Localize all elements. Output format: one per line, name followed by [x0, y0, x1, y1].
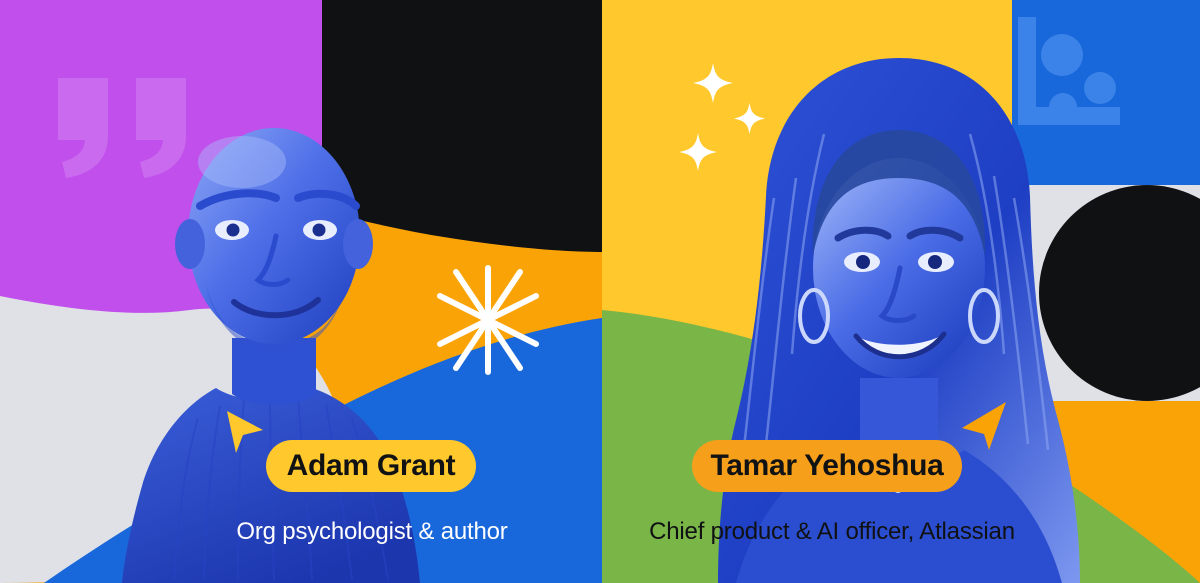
speaker-name-pill-tamar-yehoshua[interactable]: Tamar Yehoshua: [692, 440, 962, 492]
portrait-tamar-yehoshua: [714, 48, 1084, 583]
portrait-illustration: [120, 88, 450, 583]
speaker-name-text: Adam Grant: [287, 449, 456, 483]
speaker-role-adam-grant: Org psychologist & author: [222, 518, 522, 546]
speaker-banner: Adam Grant Org psychologist & author: [0, 0, 1200, 583]
speaker-card-adam-grant[interactable]: Adam Grant Org psychologist & author: [0, 0, 602, 583]
speaker-role-tamar-yehoshua: Chief product & AI officer, Atlassian: [622, 518, 1042, 546]
speaker-name-text: Tamar Yehoshua: [710, 449, 943, 483]
plus-sparkle-icon: [678, 132, 718, 172]
speaker-name-pill-adam-grant[interactable]: Adam Grant: [266, 440, 476, 492]
cursor-arrow-icon: [958, 398, 1010, 452]
sparkle-burst-icon: [432, 262, 544, 378]
cursor-arrow-icon: [224, 408, 266, 456]
speaker-card-tamar-yehoshua[interactable]: Tamar Yehoshua Chief product & AI office…: [602, 0, 1200, 583]
portrait-adam-grant: [120, 88, 450, 583]
portrait-illustration: [714, 48, 1084, 583]
